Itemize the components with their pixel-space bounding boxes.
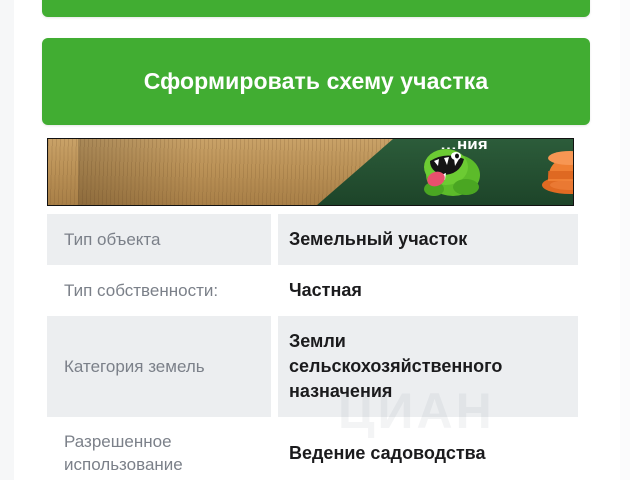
table-cell-value: Земельный участок bbox=[278, 214, 578, 265]
table-row: Тип объекта Земельный участок bbox=[47, 214, 578, 265]
table-cell-value: Ведение садоводства bbox=[278, 417, 578, 480]
table-row: Тип собственности: Частная bbox=[47, 265, 578, 316]
table-row: Разрешенное использование Ведение садово… bbox=[47, 417, 578, 480]
table-cell-value: Частная bbox=[278, 265, 578, 316]
table-row: Категория земель Земли сельскохозяйствен… bbox=[47, 316, 578, 417]
left-gutter bbox=[0, 0, 14, 480]
green-monster-icon bbox=[420, 145, 482, 197]
table-cell-label: Тип собственности: bbox=[47, 265, 271, 316]
advertisement-banner[interactable]: …ния bbox=[47, 138, 574, 206]
table-cell-label: Категория земель bbox=[47, 316, 271, 417]
table-cell-label: Тип объекта bbox=[47, 214, 271, 265]
orange-hat-icon bbox=[540, 147, 574, 195]
property-info-table: Тип объекта Земельный участок Тип собств… bbox=[47, 214, 578, 480]
right-gutter bbox=[620, 0, 630, 480]
previous-action-button[interactable] bbox=[42, 0, 590, 17]
table-cell-label: Разрешенное использование bbox=[47, 417, 271, 480]
table-cell-value: Земли сельскохозяйственного назначения bbox=[278, 316, 578, 417]
generate-plot-scheme-button[interactable]: Сформировать схему участка bbox=[42, 38, 590, 125]
page-root: Сформировать схему участка …ния bbox=[0, 0, 630, 480]
